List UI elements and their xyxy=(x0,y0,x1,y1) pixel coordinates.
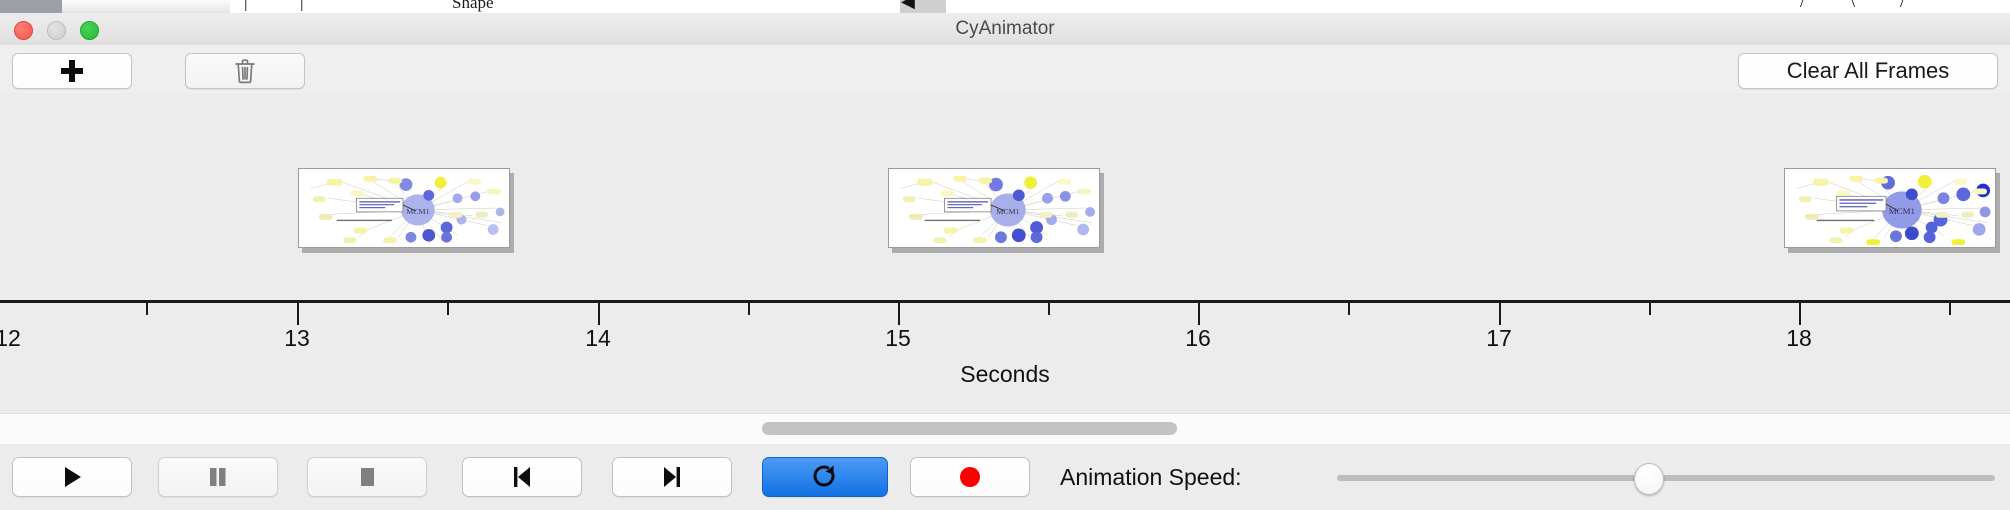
background-cell xyxy=(312,0,441,13)
frame-thumbnail-2[interactable]: MCM1 xyxy=(888,168,1100,248)
animation-speed-label: Animation Speed: xyxy=(1060,457,1242,497)
timeline-panel[interactable]: MCM1 xyxy=(0,93,2010,413)
axis-tick-label: 13 xyxy=(284,325,310,352)
axis-minor-tick xyxy=(1949,303,1951,315)
add-frame-button[interactable] xyxy=(12,53,132,89)
record-button[interactable] xyxy=(910,457,1030,497)
plus-icon xyxy=(61,60,83,82)
axis-minor-tick xyxy=(1348,303,1350,315)
axis-tick-label: 18 xyxy=(1786,325,1812,352)
animation-speed-slider[interactable] xyxy=(1337,475,1995,481)
frame-hub-label: MCM1 xyxy=(996,207,1019,216)
frame-thumbnail-3[interactable]: MCM1 xyxy=(1784,168,1996,248)
skip-forward-icon xyxy=(661,465,683,489)
loop-button[interactable] xyxy=(762,457,888,497)
timeline-axis xyxy=(0,300,2010,303)
background-selected-cell xyxy=(0,0,62,13)
timeline-scrollbar[interactable] xyxy=(0,413,2010,445)
axis-minor-tick xyxy=(748,303,750,315)
skip-to-start-button[interactable] xyxy=(462,457,582,497)
trash-icon xyxy=(234,58,256,84)
axis-major-tick xyxy=(297,303,299,325)
frame-hub-label: MCM1 xyxy=(1889,206,1915,216)
skip-to-end-button[interactable] xyxy=(612,457,732,497)
play-icon xyxy=(61,465,83,489)
background-cell xyxy=(62,0,141,13)
axis-tick-label: 12 xyxy=(0,325,21,352)
stop-button[interactable] xyxy=(307,457,427,497)
axis-tick-label: 15 xyxy=(885,325,911,352)
timeline-scrollbar-thumb[interactable] xyxy=(762,422,1177,435)
axis-minor-tick xyxy=(447,303,449,315)
window-title: CyAnimator xyxy=(0,13,2010,45)
axis-title: Seconds xyxy=(0,361,2010,388)
pause-button[interactable] xyxy=(158,457,278,497)
clear-all-frames-button[interactable]: Clear All Frames xyxy=(1738,53,1998,89)
frame-hub-label: MCM1 xyxy=(406,207,429,216)
delete-frame-button[interactable] xyxy=(185,53,305,89)
play-button[interactable] xyxy=(12,457,132,497)
animation-speed-slider-thumb[interactable] xyxy=(1634,463,1664,495)
axis-major-tick xyxy=(898,303,900,325)
record-icon xyxy=(958,465,982,489)
pause-icon xyxy=(207,465,229,489)
axis-tick-label: 17 xyxy=(1486,325,1512,352)
frame-toolbar: Clear All Frames xyxy=(0,45,2010,94)
background-window-strip: | | Shape ◀ / \ / xyxy=(0,0,2010,13)
axis-minor-tick xyxy=(146,303,148,315)
axis-major-tick xyxy=(1499,303,1501,325)
axis-minor-tick xyxy=(1048,303,1050,315)
axis-tick-label: 16 xyxy=(1185,325,1211,352)
background-cell xyxy=(440,0,901,13)
axis-minor-tick xyxy=(1649,303,1651,315)
clear-all-frames-label: Clear All Frames xyxy=(1787,58,1950,84)
background-cell xyxy=(188,0,231,13)
axis-major-tick xyxy=(1799,303,1801,325)
cyanimator-window: | | Shape ◀ / \ / CyAnimator Clear All F… xyxy=(0,0,2010,510)
loop-icon xyxy=(812,464,838,490)
frame-thumbnail-1[interactable]: MCM1 xyxy=(298,168,510,248)
axis-major-tick xyxy=(598,303,600,325)
background-label: Shape xyxy=(452,0,494,13)
playback-bar: Animation Speed: xyxy=(0,444,2010,510)
title-bar: CyAnimator xyxy=(0,13,2010,46)
axis-tick-label: 14 xyxy=(585,325,611,352)
skip-back-icon xyxy=(511,465,533,489)
background-cell xyxy=(140,0,189,13)
axis-major-tick xyxy=(1198,303,1200,325)
stop-icon xyxy=(356,465,378,489)
